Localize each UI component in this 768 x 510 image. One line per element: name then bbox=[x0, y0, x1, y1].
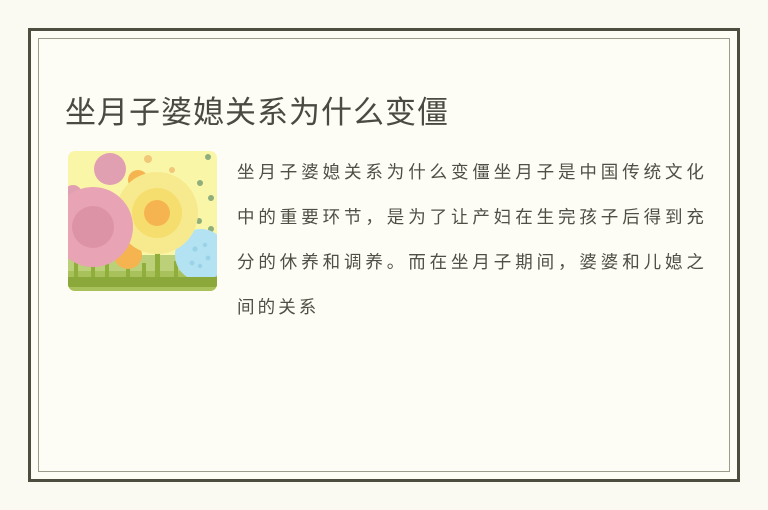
blue-flower-speck-1 bbox=[192, 246, 197, 251]
speck-3 bbox=[208, 195, 214, 201]
page-inner-border: 坐月子婆媳关系为什么变僵 bbox=[38, 38, 730, 472]
orange-dot-micro-2 bbox=[169, 167, 175, 173]
page-outer-border: 坐月子婆媳关系为什么变僵 bbox=[28, 28, 740, 482]
pink-flower-center bbox=[72, 206, 114, 248]
page-title: 坐月子婆媳关系为什么变僵 bbox=[65, 92, 449, 134]
article-content: 坐月子婆媳关系为什么变僵 bbox=[39, 39, 729, 471]
speck-1 bbox=[205, 154, 211, 160]
speck-2 bbox=[197, 180, 203, 186]
flowers-meadow-illustration bbox=[64, 145, 221, 302]
blue-flower-speck-4 bbox=[190, 261, 195, 266]
article-page: 坐月子婆媳关系为什么变僵 bbox=[0, 0, 768, 510]
illustration-svg bbox=[64, 145, 221, 302]
blue-flower-speck-5 bbox=[198, 264, 202, 268]
article-paragraph-text: 坐月子婆媳关系为什么变僵坐月子是中国传统文化中的重要环节，是为了让产妇在生完孩子… bbox=[237, 163, 707, 318]
article-body: 坐月子婆媳关系为什么变僵坐月子是中国传统文化中的重要环节，是为了让产妇在生完孩子… bbox=[59, 143, 707, 451]
pink-dot-top bbox=[94, 153, 126, 185]
ground-band bbox=[64, 277, 221, 287]
orange-dot-micro bbox=[144, 155, 152, 163]
blue-flower-speck-3 bbox=[206, 256, 211, 261]
blue-flower-speck-2 bbox=[203, 243, 207, 247]
yellow-flower-center bbox=[144, 200, 170, 226]
